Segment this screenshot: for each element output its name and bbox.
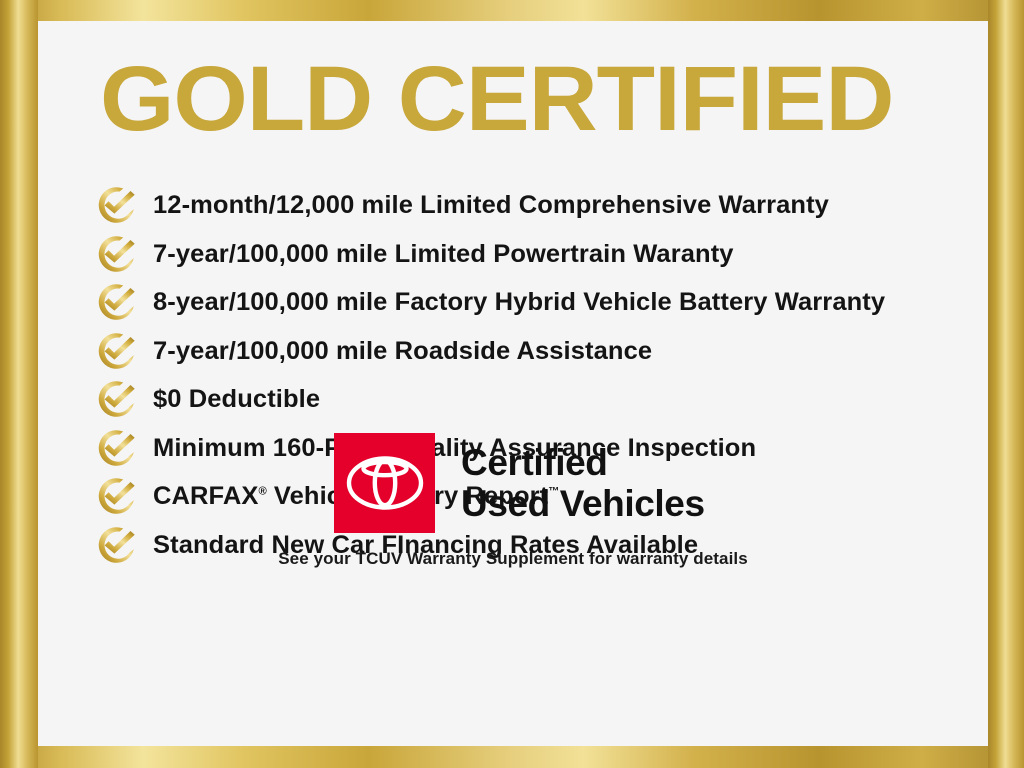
gold-check-circle-icon <box>93 474 139 518</box>
list-item: 7-year/100,000 mile Limited Powertrain W… <box>93 230 988 279</box>
gold-check-circle-icon <box>93 377 139 421</box>
certificate-panel: GOLD CERTIFIED 12-month/12,000 mile Limi… <box>38 21 988 746</box>
toyota-emblem-icon <box>346 455 424 511</box>
toyota-logo-tile <box>334 433 435 533</box>
registered-mark: ® <box>258 486 266 498</box>
list-item: 8-year/100,000 mile Factory Hybrid Vehic… <box>93 278 988 327</box>
list-item: $0 Deductible <box>93 375 988 424</box>
gold-certified-certificate: GOLD CERTIFIED 12-month/12,000 mile Limi… <box>0 0 1024 768</box>
list-item-label: 7-year/100,000 mile Limited Powertrain W… <box>153 240 734 268</box>
list-item: 7-year/100,000 mile Roadside Assistance <box>93 327 988 376</box>
list-item-label: 7-year/100,000 mile Roadside Assistance <box>153 337 652 365</box>
toyota-wordmark: Certified Used Vehicles <box>461 442 705 524</box>
gold-frame-right-rail <box>988 0 1024 768</box>
gold-check-circle-icon <box>93 329 139 373</box>
gold-check-circle-icon <box>93 426 139 470</box>
wordmark-line-1: Certified <box>461 442 705 483</box>
wordmark-line-2: Used Vehicles <box>461 483 705 524</box>
carfax-wordmark: CARFAX <box>153 482 258 510</box>
gold-check-circle-icon <box>93 183 139 227</box>
gold-frame-left-rail <box>0 0 38 768</box>
gold-check-circle-icon <box>93 280 139 324</box>
list-item: 12-month/12,000 mile Limited Comprehensi… <box>93 181 988 230</box>
page-title: GOLD CERTIFIED <box>100 49 988 149</box>
list-item-label: $0 Deductible <box>153 385 320 413</box>
list-item-label: 12-month/12,000 mile Limited Comprehensi… <box>153 191 829 219</box>
warranty-disclaimer: See your TCUV Warranty Supplement for wa… <box>38 549 988 569</box>
gold-check-circle-icon <box>93 232 139 276</box>
list-item-label: 8-year/100,000 mile Factory Hybrid Vehic… <box>153 288 885 316</box>
toyota-certified-used-vehicles-lockup: Certified Used Vehicles <box>334 433 705 533</box>
